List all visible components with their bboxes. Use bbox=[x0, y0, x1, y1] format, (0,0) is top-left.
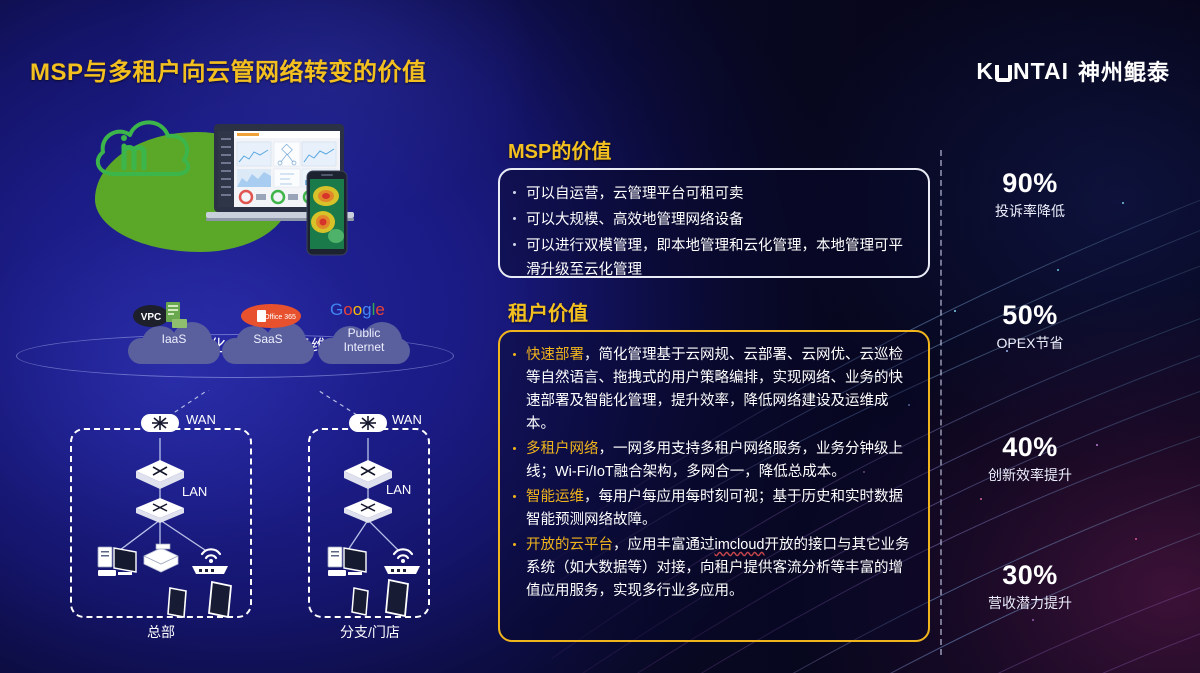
cloud-item-iaas: VPC IaaS bbox=[128, 322, 220, 364]
stat-block-1: 90% 投诉率降低 bbox=[930, 168, 1130, 221]
brand-logo-k: K bbox=[976, 58, 994, 85]
router-icon-branch-wan bbox=[346, 408, 390, 438]
stat-label-4: 营收潜力提升 bbox=[930, 593, 1130, 613]
site-label-hq: 总部 bbox=[70, 622, 252, 642]
brand-logo-ntai: NTAI bbox=[1013, 58, 1069, 85]
tenant-section-title: 租户价值 bbox=[508, 297, 588, 326]
msp-bullet-2: 可以大规模、高效地管理网络设备 bbox=[508, 208, 912, 232]
tenant-keyword-1: 快速部署 bbox=[526, 347, 584, 363]
vpc-badge: VPC bbox=[132, 300, 188, 335]
tablet-icon-branch-1 bbox=[348, 586, 372, 618]
svg-text:Office 365: Office 365 bbox=[264, 314, 296, 321]
cloud-services-row: VPC IaaS Office 365 bbox=[0, 296, 470, 396]
switch-icon-branch-lan bbox=[342, 496, 394, 526]
pc-icon-hq bbox=[96, 542, 140, 582]
stat-value-4: 30% bbox=[930, 560, 1130, 591]
cloud-label-public-internet: PublicInternet bbox=[318, 326, 410, 354]
brand-logo: KNTAI 神州鲲泰 bbox=[976, 55, 1170, 87]
network-topology: WAN LAN 总部 WAN LAN 分支/门店 bbox=[0, 390, 470, 665]
tenant-text-4-before: ，应用丰富通过 bbox=[613, 537, 715, 553]
brand-logo-u-mark bbox=[995, 65, 1012, 82]
svg-text:Google: Google bbox=[330, 300, 385, 319]
cloud-item-public-internet: Google PublicInternet bbox=[318, 322, 410, 364]
tenant-bullet-2: 多租户网络，一网多用支持多租户网络服务，业务分钟级上线；Wi-Fi/IoT融合架… bbox=[508, 438, 914, 484]
cloud-item-saas: Office 365 SaaS bbox=[222, 322, 314, 364]
stat-block-3: 40% 创新效率提升 bbox=[930, 432, 1130, 485]
tenant-keyword-3: 智能运维 bbox=[526, 489, 584, 505]
google-badge: Google bbox=[330, 298, 400, 327]
stat-value-2: 50% bbox=[930, 300, 1130, 331]
tablet-icon-hq-2 bbox=[205, 580, 235, 620]
stat-label-2: OPEX节省 bbox=[930, 333, 1130, 353]
router-icon-hq-wan bbox=[138, 408, 182, 438]
phone-heatmap-mockup bbox=[306, 170, 348, 261]
wan-label-hq: WAN bbox=[186, 412, 216, 427]
tenant-link-imcloud: imcloud bbox=[715, 537, 765, 553]
stat-value-1: 90% bbox=[930, 168, 1130, 199]
msp-value-card: 可以自运营，云管理平台可租可卖 可以大规模、高效地管理网络设备 可以进行双模管理… bbox=[498, 168, 930, 278]
tenant-keyword-4: 开放的云平台 bbox=[526, 537, 613, 553]
switch-icon-hq-lan bbox=[134, 496, 186, 526]
tenant-bullet-4: 开放的云平台，应用丰富通过imcloud开放的接口与其它业务系统（如大数据等）对… bbox=[508, 534, 914, 603]
slide-root: MSP与多租户向云管网络转变的价值 KNTAI 神州鲲泰 bbox=[0, 0, 1200, 673]
wifi-ap-icon-branch bbox=[380, 536, 426, 578]
svg-text:VPC: VPC bbox=[141, 312, 162, 323]
switch-icon-hq-core bbox=[134, 458, 186, 492]
pc-icon-branch bbox=[326, 542, 370, 582]
stat-label-3: 创新效率提升 bbox=[930, 465, 1130, 485]
tablet-icon-hq-1 bbox=[164, 586, 190, 620]
wan-label-branch: WAN bbox=[392, 412, 422, 427]
brand-logo-cn: 神州鲲泰 bbox=[1078, 55, 1170, 87]
tenant-bullet-list: 快速部署，简化管理基于云网规、云部署、云网优、云巡检等自然语言、拖拽式的用户策略… bbox=[500, 332, 928, 603]
page-title: MSP与多租户向云管网络转变的价值 bbox=[30, 52, 427, 87]
stat-block-2: 50% OPEX节省 bbox=[930, 300, 1130, 353]
msp-bullet-3: 可以进行双模管理，即本地管理和云化管理，本地管理可平滑升级至云化管理 bbox=[508, 234, 912, 282]
printer-icon-hq bbox=[140, 542, 182, 576]
imcloud-logo bbox=[88, 104, 200, 195]
brand-logo-en: KNTAI bbox=[976, 58, 1069, 85]
msp-bullet-1: 可以自运营，云管理平台可租可卖 bbox=[508, 182, 912, 206]
site-label-branch: 分支/门店 bbox=[300, 622, 440, 642]
stat-block-4: 30% 营收潜力提升 bbox=[930, 560, 1130, 613]
office365-badge: Office 365 bbox=[240, 300, 302, 335]
tenant-keyword-2: 多租户网络 bbox=[526, 441, 599, 457]
switch-icon-branch-core bbox=[342, 458, 394, 492]
stat-label-1: 投诉率降低 bbox=[930, 201, 1130, 221]
tenant-bullet-1: 快速部署，简化管理基于云网规、云部署、云网优、云巡检等自然语言、拖拽式的用户策略… bbox=[508, 344, 914, 436]
wifi-ap-icon-hq bbox=[188, 536, 234, 578]
stat-value-3: 40% bbox=[930, 432, 1130, 463]
tenant-value-card: 快速部署，简化管理基于云网规、云部署、云网优、云巡检等自然语言、拖拽式的用户策略… bbox=[498, 330, 930, 642]
cloud-shape-public-internet: PublicInternet bbox=[318, 322, 410, 364]
product-illustration: 全网自动化 | AI智能运维 bbox=[0, 100, 470, 280]
msp-section-title: MSP的价值 bbox=[508, 135, 611, 164]
tablet-icon-branch-2 bbox=[382, 578, 412, 620]
tenant-bullet-3: 智能运维，每用户每应用每时刻可视；基于历史和实时数据智能预测网络故障。 bbox=[508, 486, 914, 532]
msp-bullet-list: 可以自运营，云管理平台可租可卖 可以大规模、高效地管理网络设备 可以进行双模管理… bbox=[500, 170, 928, 282]
